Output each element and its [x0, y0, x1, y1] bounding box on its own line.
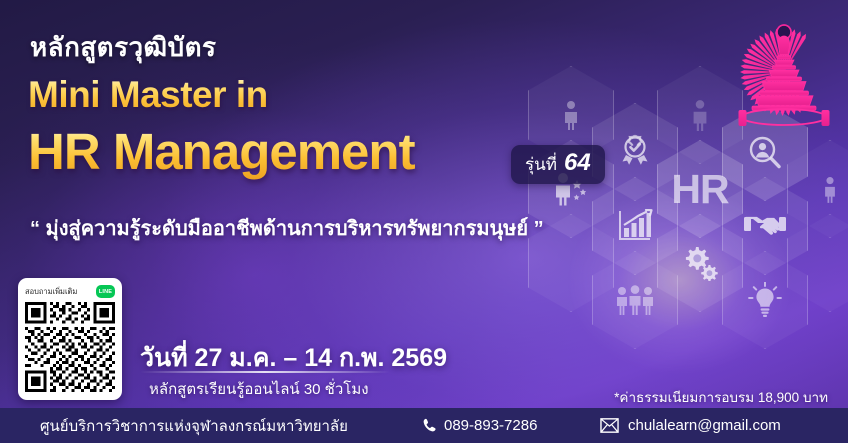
course-format-note: หลักสูตรเรียนรู้ออนไลน์ 30 ชั่วโมง [149, 377, 369, 401]
envelope-icon [600, 418, 619, 433]
qr-contact-card[interactable]: สอบถามเพิ่มเติม LINE [18, 278, 122, 400]
qr-caption: สอบถามเพิ่มเติม [25, 286, 77, 298]
poster-root: HR [0, 0, 848, 443]
gears-icon [681, 245, 719, 281]
qr-code[interactable] [25, 302, 115, 392]
lightbulb-icon [748, 282, 782, 318]
date-divider [140, 371, 390, 373]
email-address: chulalearn@gmail.com [628, 417, 781, 434]
fee-note: *ค่าธรรมเนียมการอบรม 18,900 บาท [614, 386, 828, 408]
batch-number: 64 [564, 149, 591, 177]
footer-bar: ศูนย์บริการวิชาการแห่งจุฬาลงกรณ์มหาวิทยา… [0, 408, 848, 443]
award-ribbon-icon [618, 134, 652, 170]
phone-icon [422, 418, 437, 433]
bar-chart-growth-icon [617, 209, 653, 243]
phone-contact[interactable]: 089-893-7286 [422, 417, 537, 434]
person-icon [822, 176, 838, 203]
phone-number: 089-893-7286 [444, 417, 537, 434]
line-app-badge: LINE [96, 285, 115, 298]
organization-name: ศูนย์บริการวิชาการแห่งจุฬาลงกรณ์มหาวิทยา… [40, 414, 348, 438]
people-group-icon [615, 285, 655, 315]
chulalongkorn-emblem [736, 6, 832, 132]
handshake-icon [744, 212, 786, 240]
phra-kiao-emblem-icon [736, 6, 832, 132]
batch-badge: รุ่นที่ 64 [511, 145, 605, 184]
person-search-icon [747, 134, 783, 170]
batch-label: รุ่นที่ [525, 151, 557, 178]
title-line-1: Mini Master in [28, 74, 268, 116]
person-icon [562, 100, 580, 130]
person-icon [690, 99, 710, 131]
kicker-text: หลักสูตรวุฒิบัตร [30, 27, 216, 68]
title-line-2: HR Management [28, 122, 415, 181]
qr-card-header: สอบถามเพิ่มเติม LINE [25, 285, 115, 298]
tagline-quote: “ มุ่งสู่ความรู้ระดับมืออาชีพด้านการบริห… [30, 212, 544, 244]
email-contact[interactable]: chulalearn@gmail.com [600, 417, 781, 434]
